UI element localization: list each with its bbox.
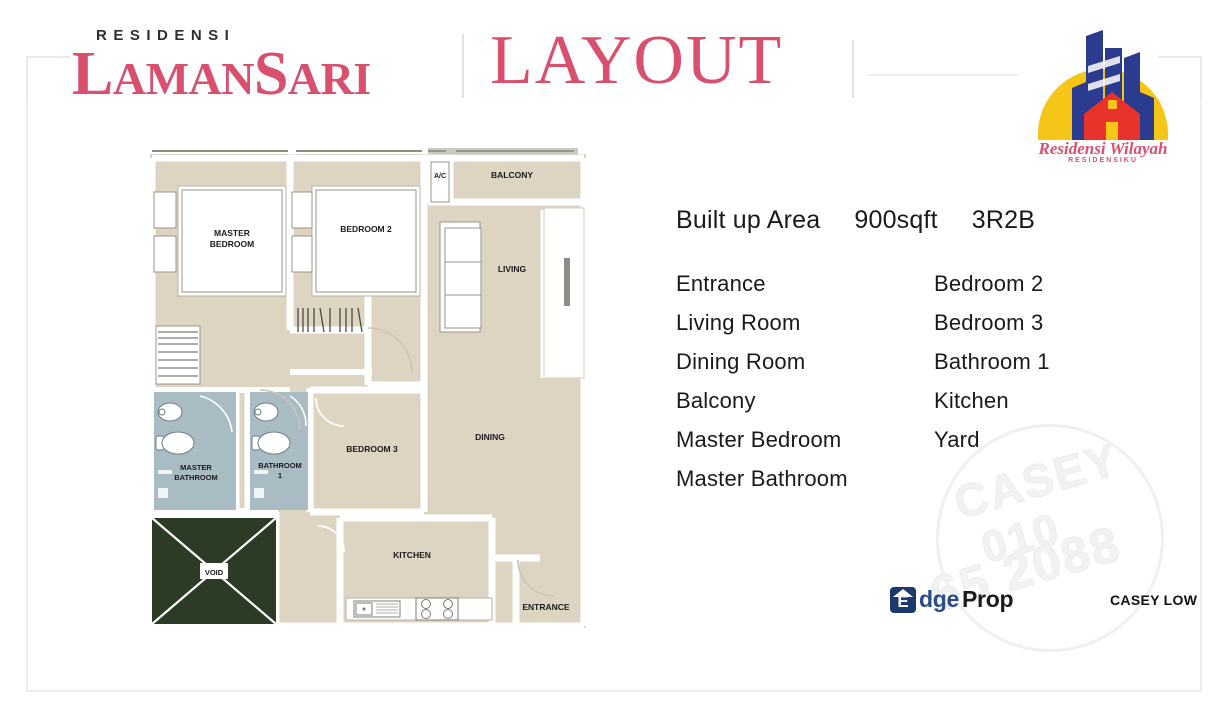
wardrobe-hatch-bedroom2 [298, 308, 362, 332]
floorplan-image: MASTER BEDROOM BEDROOM 2 [140, 140, 595, 640]
room-list-item: Bedroom 2 [934, 273, 1050, 295]
room-list-column-right: Bedroom 2 Bedroom 3 Bathroom 1 Kitchen Y… [934, 273, 1050, 507]
frame-edge-left [26, 100, 28, 692]
room-list-item: Balcony [676, 390, 934, 412]
floorplan-label-master-bedroom-line2: BEDROOM [210, 239, 254, 249]
room-dining: DINING [475, 432, 505, 442]
room-void-yard: VOID [152, 518, 276, 624]
house-roof-icon [893, 589, 913, 597]
room-list-column-left: Entrance Living Room Dining Room Balcony… [676, 273, 934, 507]
brand-kicker: RESIDENSI [96, 28, 371, 43]
room-ac-ledge: A/C [431, 162, 449, 202]
header-divider-right [852, 40, 854, 98]
built-up-area-label: Built up Area [676, 206, 820, 235]
floorplan-label-ac: A/C [434, 173, 446, 180]
frame-edge-right [1200, 100, 1202, 692]
room-bathroom-1: BATHROOM 1 [250, 392, 308, 510]
wardrobe-hatch-left [156, 326, 200, 384]
room-list-item: Dining Room [676, 351, 934, 373]
logo-script-text: Residensi Wilayah [1038, 139, 1168, 158]
brand-name-s: S [254, 40, 288, 108]
info-panel: Built up Area 900sqft 3R2B Entrance Livi… [676, 206, 1146, 507]
built-up-area-row: Built up Area 900sqft 3R2B [676, 206, 1146, 235]
logo-house-door [1106, 122, 1118, 140]
logo-house-badge [1108, 100, 1117, 109]
room-list-item: Living Room [676, 312, 934, 334]
brand-block: RESIDENSI LAMANSARI [72, 28, 371, 104]
header: RESIDENSI LAMANSARI LAYOUT [0, 0, 1228, 140]
room-list-item: Yard [934, 429, 1050, 451]
floorplan-label-master-bathroom-line1: MASTER [180, 463, 212, 472]
floorplan-label-dining: DINING [475, 432, 505, 442]
bedroom-bath-config: 3R2B [972, 206, 1035, 235]
floorplan-label-master-bedroom-line1: MASTER [214, 228, 250, 238]
floorplan-label-void: VOID [205, 568, 224, 577]
brand-name: LAMANSARI [72, 45, 371, 104]
living-tv-unit [564, 258, 570, 306]
edgeprop-name-prop: Prop [962, 586, 1013, 613]
edgeprop-house-icon: E [890, 587, 916, 613]
built-up-area-value: 900sqft [854, 206, 937, 235]
header-rule [868, 74, 1018, 76]
brand-name-l: L [72, 40, 113, 108]
logo-tower-far-left [1072, 82, 1086, 140]
room-balcony: BALCONY [491, 170, 533, 180]
watermark-line-2: 010 [976, 504, 1066, 574]
floorplan-label-entrance: ENTRANCE [522, 602, 570, 612]
layout-page: RESIDENSI LAMANSARI LAYOUT [0, 0, 1228, 720]
edgeprop-logo[interactable]: E dge Prop [890, 586, 1013, 613]
floorplan-label-bathroom-1-line1: BATHROOM [258, 461, 302, 470]
floorplan-label-bedroom-3: BEDROOM 3 [346, 444, 398, 454]
floorplan-label-bathroom-1-line2: 1 [278, 471, 282, 480]
floorplan-label-master-bathroom-line2: BATHROOM [174, 473, 218, 482]
room-list-item: Kitchen [934, 390, 1050, 412]
floorplan-label-balcony: BALCONY [491, 170, 533, 180]
logo-sub-text: RESIDENSIKU [1068, 157, 1138, 162]
brand-name-ari: ARI [288, 53, 371, 104]
room-list: Entrance Living Room Dining Room Balcony… [676, 273, 1146, 507]
floorplan-label-kitchen: KITCHEN [393, 550, 431, 560]
room-list-item: Master Bathroom [676, 468, 934, 490]
floorplan-label-living: LIVING [498, 264, 527, 274]
developer-logo: Residensi Wilayah RESIDENSIKU [1028, 22, 1178, 162]
agent-name: CASEY LOW [1110, 592, 1197, 608]
floorplan-label-bedroom-2: BEDROOM 2 [340, 224, 392, 234]
brand-name-aman: AMAN [113, 53, 254, 104]
room-list-item: Bedroom 3 [934, 312, 1050, 334]
logo-tower-far-right [1140, 92, 1154, 140]
room-master-bathroom: MASTER BATHROOM [154, 392, 236, 510]
room-list-item: Master Bedroom [676, 429, 934, 451]
room-list-item: Bathroom 1 [934, 351, 1050, 373]
edgeprop-name-dge: dge [919, 586, 959, 613]
page-title: LAYOUT [490, 26, 783, 96]
frame-edge-bottom [26, 690, 1202, 692]
header-divider-left [462, 34, 464, 98]
room-list-item: Entrance [676, 273, 934, 295]
